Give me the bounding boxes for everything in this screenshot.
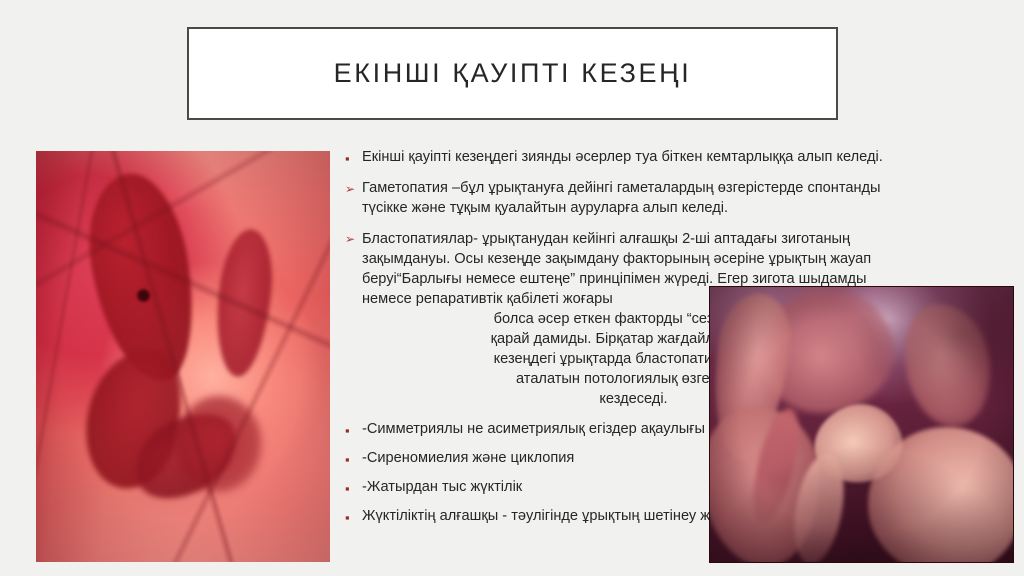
slide-canvas: ЕКІНШІ ҚАУІПТІ КЕЗЕҢІ ▪ Екінші қауіпті к… <box>0 0 1024 576</box>
list-item: ➢ Гаметопатия –бұл ұрықтануға дейінгі га… <box>345 179 905 218</box>
square-dot-bullet-icon: ▪ <box>345 507 362 527</box>
list-item: ▪ Екінші қауіпті кезеңдегі зиянды әсерле… <box>345 148 905 168</box>
embryo-in-vascular-tissue-photo <box>36 151 330 562</box>
square-dot-bullet-icon: ▪ <box>345 420 362 440</box>
arrow-bullet-icon: ➢ <box>345 229 362 409</box>
twin-fetuses-photo <box>709 286 1014 563</box>
paragraph-line: немесе репаративтік қабілеті жоғары <box>362 291 613 307</box>
title-box: ЕКІНШІ ҚАУІПТІ КЕЗЕҢІ <box>187 27 838 120</box>
square-dot-bullet-icon: ▪ <box>345 478 362 498</box>
square-dot-bullet-icon: ▪ <box>345 449 362 469</box>
list-item-text: Гаметопатия –бұл ұрықтануға дейінгі гаме… <box>362 179 905 218</box>
square-dot-bullet-icon: ▪ <box>345 148 362 168</box>
paragraph-line: Бластопатиялар- ұрықтанудан кейінгі алға… <box>362 231 850 247</box>
paragraph-line: беруі“Барлығы немесе ештеңе” принціпімен… <box>362 271 867 287</box>
paragraph-line: зақымдануы. Осы кезеңде зақымдану фактор… <box>362 251 871 267</box>
list-item-text: Екінші қауіпті кезеңдегі зиянды әсерлер … <box>362 148 905 168</box>
photo-layer-vignette <box>36 151 330 562</box>
photo-layer-vignette <box>710 287 1013 562</box>
arrow-bullet-icon: ➢ <box>345 179 362 218</box>
page-title: ЕКІНШІ ҚАУІПТІ КЕЗЕҢІ <box>334 59 692 89</box>
